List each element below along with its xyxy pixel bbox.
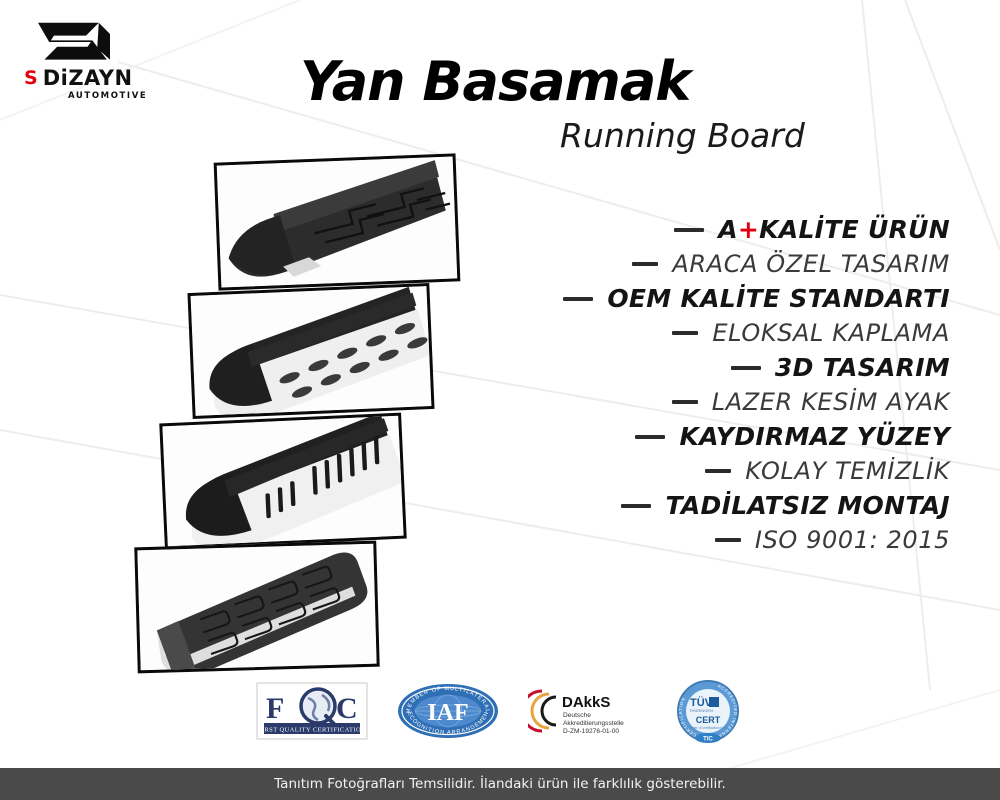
feature-item: TADİLATSIZ MONTAJ xyxy=(430,491,950,520)
feature-item: ISO 9001: 2015 xyxy=(430,526,950,554)
feature-label: ISO 9001: 2015 xyxy=(755,526,950,554)
feature-label: 3D TASARIM xyxy=(775,353,950,382)
feature-item: KAYDIRMAZ YÜZEY xyxy=(430,422,950,451)
feature-label: A+KALİTE ÜRÜN xyxy=(718,215,950,244)
feature-label: TADİLATSIZ MONTAJ xyxy=(665,491,950,520)
footer-disclaimer: Tanıtım Fotoğrafları Temsilidir. İlandak… xyxy=(274,776,726,792)
tuv-cert-text: CERT xyxy=(696,715,721,725)
feature-item: KOLAY TEMİZLİK xyxy=(430,457,950,485)
svg-text:C: C xyxy=(336,692,358,725)
bullet-dash-icon xyxy=(672,400,698,404)
bullet-dash-icon xyxy=(621,504,651,508)
dakks-line1: Deutsche xyxy=(563,712,591,719)
product-photo[interactable] xyxy=(159,413,406,550)
svg-text:F: F xyxy=(266,692,284,725)
feature-item: ELOKSAL KAPLAMA xyxy=(430,319,950,347)
feature-label: KOLAY TEMİZLİK xyxy=(745,457,950,485)
feature-item: LAZER KESİM AYAK xyxy=(430,388,950,416)
iaf-name: IAF xyxy=(427,700,468,726)
product-photo[interactable] xyxy=(134,541,379,674)
bullet-dash-icon xyxy=(632,262,658,266)
feature-label: LAZER KESİM AYAK xyxy=(712,388,950,416)
bullet-dash-icon xyxy=(705,469,731,473)
bullet-dash-icon xyxy=(672,331,698,335)
feature-item: OEM KALİTE STANDARTI xyxy=(430,284,950,313)
feature-label: ARACA ÖZEL TASARIM xyxy=(672,250,950,278)
dakks-line3: D-ZM-19276-01-00 xyxy=(563,728,619,735)
tuv-sub-text: center of certification body xyxy=(688,726,728,730)
tuv-certification-badge: ACCREDITED INTERNATIONAL CERTIFICATION T… xyxy=(674,678,744,744)
feature-label: ELOKSAL KAPLAMA xyxy=(712,319,950,347)
product-photo[interactable] xyxy=(214,153,461,290)
bullet-dash-icon xyxy=(635,435,665,439)
bullet-dash-icon xyxy=(674,228,704,232)
logo-tagline: AUTOMOTIVE xyxy=(68,91,164,101)
feature-list: A+KALİTE ÜRÜN ARACA ÖZEL TASARIM OEM KAL… xyxy=(430,215,950,560)
dakks-certification-badge: DAkkS Deutsche Akkreditierungsstelle D-Z… xyxy=(528,685,646,737)
bullet-dash-icon xyxy=(715,538,741,542)
feature-item: ARACA ÖZEL TASARIM xyxy=(430,250,950,278)
bullet-dash-icon xyxy=(563,297,593,301)
feature-item: A+KALİTE ÜRÜN xyxy=(430,215,950,244)
dakks-name: DAkkS xyxy=(562,694,610,711)
feature-label: KAYDIRMAZ YÜZEY xyxy=(679,422,950,451)
product-photo[interactable] xyxy=(187,283,434,419)
fqc-certification-badge: F Q C FIRST QUALITY CERTIFICATION xyxy=(256,682,368,740)
footer-bar: Tanıtım Fotoğrafları Temsilidir. İlandak… xyxy=(0,768,1000,800)
fqc-caption: FIRST QUALITY CERTIFICATION xyxy=(258,727,366,734)
tuv-region: THÜRINGEN xyxy=(689,708,713,713)
brand-logo: S DiZAYN AUTOMOTIVE xyxy=(24,18,164,101)
logo-s-letter: S xyxy=(24,69,37,88)
page-subtitle: Running Board xyxy=(560,116,805,155)
s-dizayn-logo-icon xyxy=(30,18,118,66)
logo-brand-name: DiZAYN xyxy=(43,68,133,89)
feature-label: OEM KALİTE STANDARTI xyxy=(607,284,950,313)
bullet-dash-icon xyxy=(731,366,761,370)
certification-badges: F Q C FIRST QUALITY CERTIFICATION IAF ME… xyxy=(0,678,1000,744)
page-title: Yan Basamak xyxy=(300,50,690,113)
tuv-bottom-badge: TIC xyxy=(703,737,713,743)
dakks-line2: Akkreditierungsstelle xyxy=(563,720,624,727)
feature-accent-plus: + xyxy=(738,215,759,244)
feature-item: 3D TASARIM xyxy=(430,353,950,382)
iaf-certification-badge: IAF MEMBER OF MULTILATERAL RECOGNITION A… xyxy=(396,682,500,740)
